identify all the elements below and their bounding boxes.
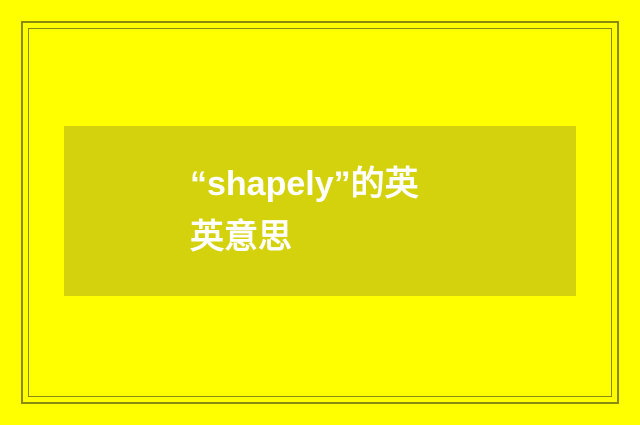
title-panel: “shapely”的英英意思 bbox=[64, 126, 576, 296]
page-title: “shapely”的英英意思 bbox=[190, 158, 450, 263]
card-canvas: “shapely”的英英意思 bbox=[0, 0, 640, 425]
